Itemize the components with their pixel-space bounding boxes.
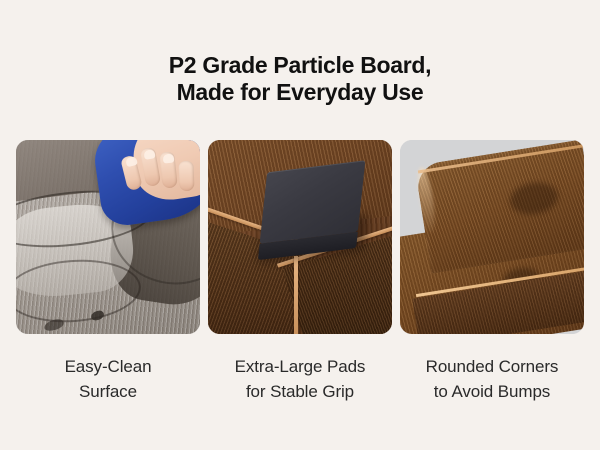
caption-line-2: for Stable Grip (208, 379, 392, 404)
caption-line-1: Extra-Large Pads (208, 354, 392, 379)
fingernail (162, 153, 174, 163)
feature-image-rounded-corners (400, 140, 584, 334)
feature-image-easy-clean-surface (16, 140, 200, 334)
feature-image-row (16, 140, 584, 334)
caption-extra-large-pads: Extra-Large Pads for Stable Grip (208, 354, 392, 416)
caption-line-2: Surface (16, 379, 200, 404)
caption-line-1: Easy-Clean (16, 354, 200, 379)
black-foam-pad (260, 160, 366, 243)
pad-top-face (260, 160, 366, 243)
caption-rounded-corners: Rounded Corners to Avoid Bumps (400, 354, 584, 416)
page-title: P2 Grade Particle Board, Made for Everyd… (0, 52, 600, 106)
caption-line-1: Rounded Corners (400, 354, 584, 379)
caption-line-2: to Avoid Bumps (400, 379, 584, 404)
page-title-line-2: Made for Everyday Use (0, 79, 600, 106)
edge-banding-line (294, 256, 298, 334)
feature-caption-row: Easy-Clean Surface Extra-Large Pads for … (16, 354, 584, 416)
caption-easy-clean-surface: Easy-Clean Surface (16, 354, 200, 416)
page-title-line-1: P2 Grade Particle Board, (0, 52, 600, 79)
finger (179, 161, 195, 192)
feature-image-extra-large-pads (208, 140, 392, 334)
